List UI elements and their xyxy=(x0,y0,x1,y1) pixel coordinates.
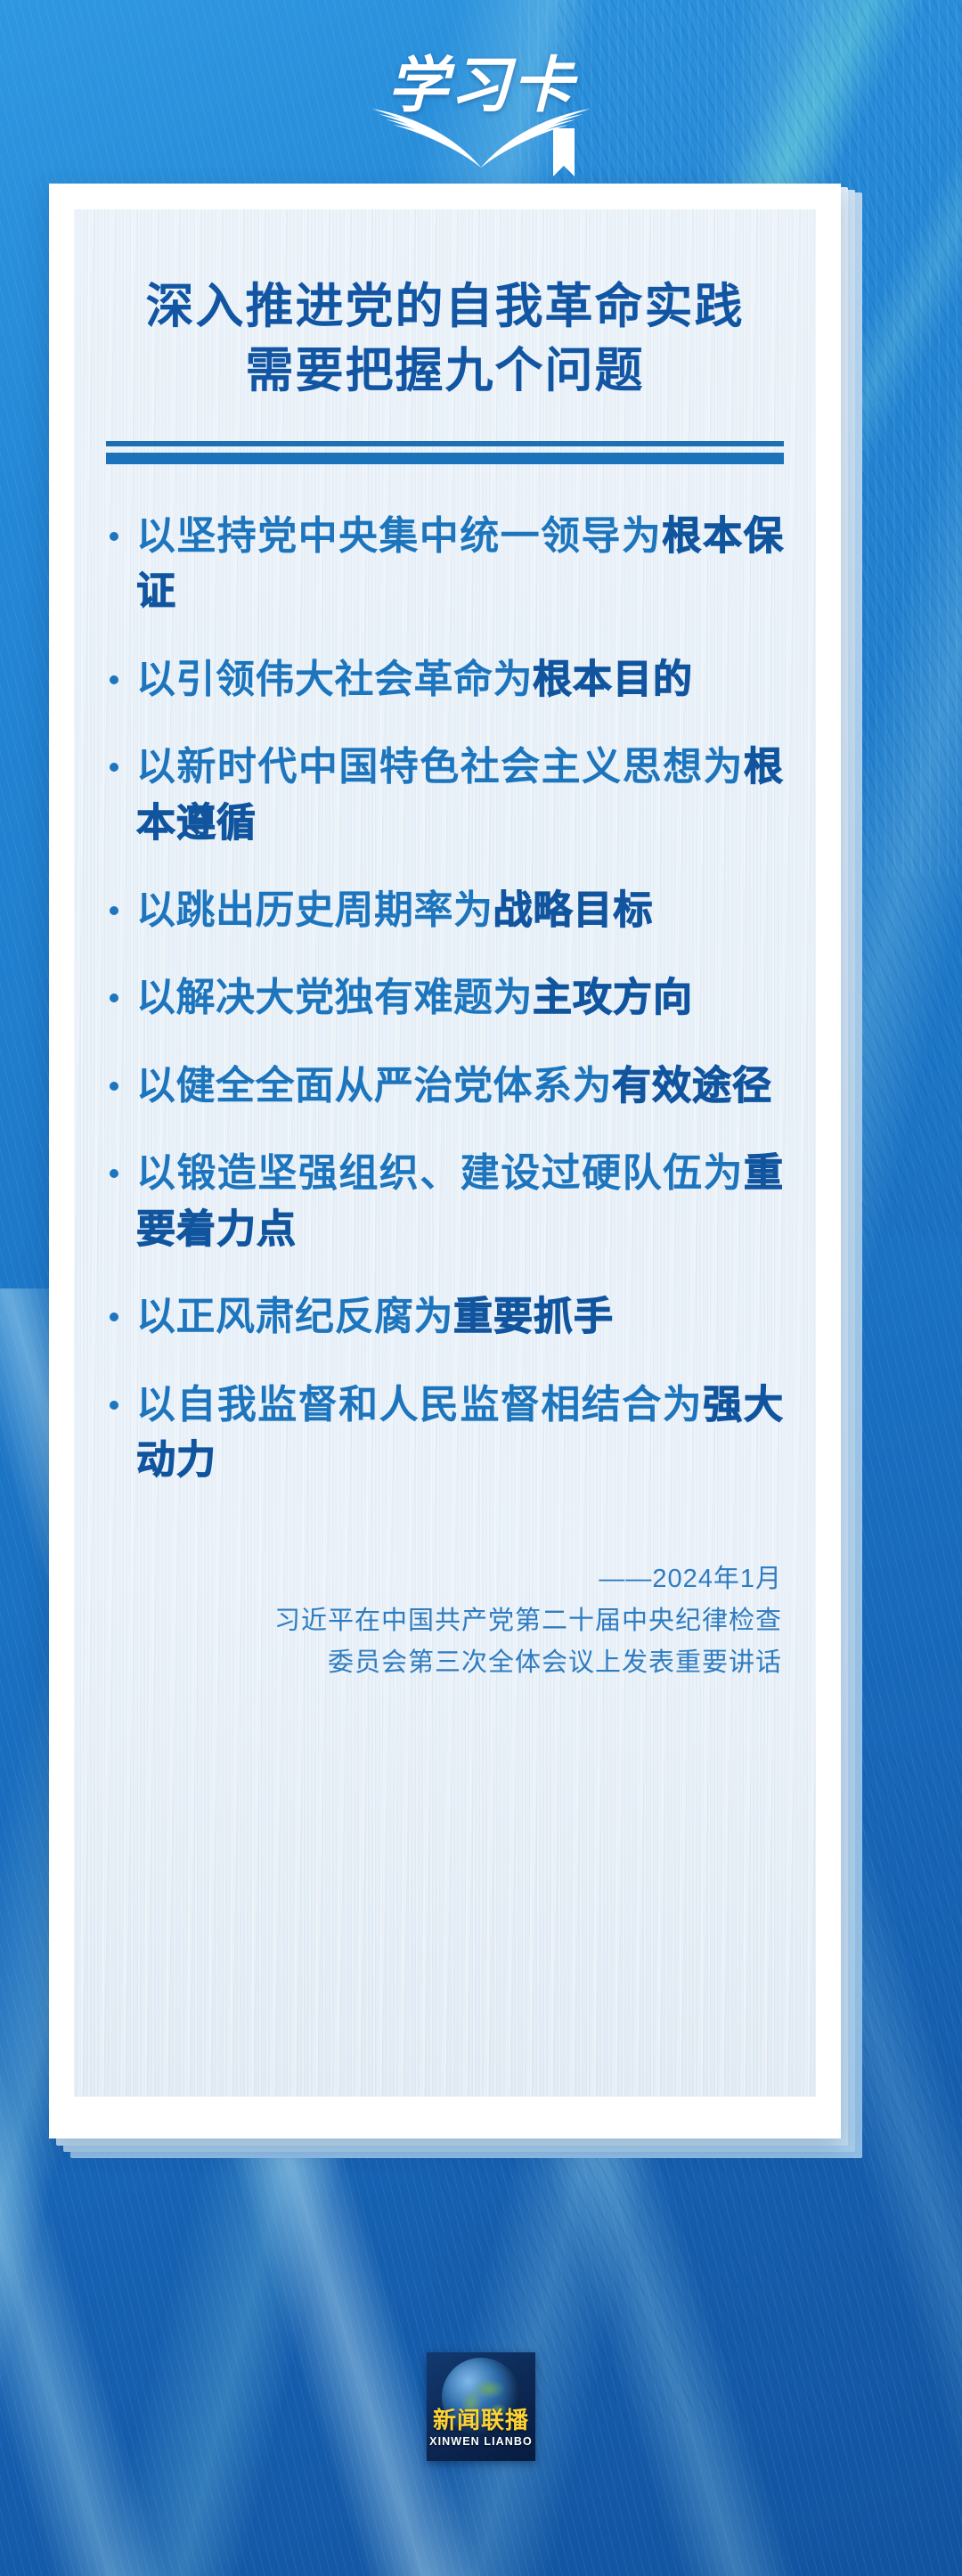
bullet-dot-icon xyxy=(110,763,118,772)
list-item-text: 以坚持党中央集中统一领导为 xyxy=(136,514,662,558)
footer: 新闻联播 XINWEN LIANBO xyxy=(0,2237,962,2576)
list-item-text: 以引领伟大社会革命为 xyxy=(136,658,533,701)
list-item-text: 以锻造坚强组织、建设过硬队伍为 xyxy=(136,1151,744,1195)
list-item-text: 以新时代中国特色社会主义思想为 xyxy=(136,745,744,789)
list-item: 以新时代中国特色社会主义思想为根本遵循 xyxy=(106,740,784,851)
list-item-text: 以解决大党独有难题为 xyxy=(136,976,533,1019)
list-item: 以坚持党中央集中统一领导为根本保证 xyxy=(106,509,784,620)
bullet-dot-icon xyxy=(110,1169,118,1178)
list-item: 以自我监督和人民监督相结合为强大动力 xyxy=(106,1378,784,1489)
poster-root: 学习卡 xyxy=(0,0,962,2576)
list-item: 以健全全面从严治党体系为有效途径 xyxy=(106,1059,784,1114)
logo-title-en: XINWEN LIANBO xyxy=(429,2436,533,2448)
divider-gap xyxy=(106,446,784,453)
list-item-emphasis: 有效途径 xyxy=(612,1064,772,1108)
card-content: 深入推进党的自我革命实践 需要把握九个问题 以坚持党中央集中统一领导为根本保证 xyxy=(106,209,784,1684)
bullet-dot-icon xyxy=(110,1082,118,1091)
list-item-emphasis: 重要抓手 xyxy=(453,1295,614,1338)
header: 学习卡 xyxy=(0,0,962,187)
title-line-2: 需要把握九个问题 xyxy=(106,339,784,404)
bullet-dot-icon xyxy=(110,1401,118,1410)
card-stack: 深入推进党的自我革命实践 需要把握九个问题 以坚持党中央集中统一领导为根本保证 xyxy=(49,184,862,2158)
list-item-text: 以正风肃纪反腐为 xyxy=(136,1295,453,1338)
bullet-dot-icon xyxy=(110,675,118,684)
bullet-dot-icon xyxy=(110,994,118,1002)
card-inner-panel: 深入推进党的自我革命实践 需要把握九个问题 以坚持党中央集中统一领导为根本保证 xyxy=(74,209,816,2097)
list-item-text: 以跳出历史周期率为 xyxy=(136,888,493,932)
list-item-emphasis: 战略目标 xyxy=(493,888,654,932)
list-item: 以正风肃纪反腐为重要抓手 xyxy=(106,1289,784,1345)
list-item-text: 以自我监督和人民监督相结合为 xyxy=(136,1383,703,1427)
list-item: 以解决大党独有难题为主攻方向 xyxy=(106,970,784,1026)
logo-title-cn: 新闻联播 xyxy=(433,2408,529,2432)
list-item: 以锻造坚强组织、建设过硬队伍为重要着力点 xyxy=(106,1146,784,1257)
list-item: 以跳出历史周期率为战略目标 xyxy=(106,883,784,938)
list-item-text: 以健全全面从严治党体系为 xyxy=(136,1064,612,1108)
attribution-line-2: 习近平在中国共产党第二十届中央纪律检查 xyxy=(106,1600,782,1642)
attribution: ——2024年1月 习近平在中国共产党第二十届中央纪律检查 委员会第三次全体会议… xyxy=(106,1558,784,1684)
brand-logo: 学习卡 xyxy=(352,12,610,176)
title-line-1: 深入推进党的自我革命实践 xyxy=(106,275,784,339)
bullet-dot-icon xyxy=(110,532,118,541)
list-item: 以引领伟大社会革命为根本目的 xyxy=(106,652,784,707)
brand-name: 学习卡 xyxy=(387,55,575,116)
bullet-list: 以坚持党中央集中统一领导为根本保证 以引领伟大社会革命为根本目的 以新时代中国特… xyxy=(106,509,784,1489)
list-item-emphasis: 根本目的 xyxy=(533,658,693,701)
bullet-dot-icon xyxy=(110,1313,118,1321)
page-title: 深入推进党的自我革命实践 需要把握九个问题 xyxy=(106,209,784,404)
attribution-line-3: 委员会第三次全体会议上发表重要讲话 xyxy=(106,1642,782,1684)
attribution-date: ——2024年1月 xyxy=(106,1558,782,1600)
divider-line-thick xyxy=(106,453,784,464)
title-divider xyxy=(106,441,784,464)
bullet-dot-icon xyxy=(110,906,118,915)
xinwen-lianbo-logo: 新闻联播 XINWEN LIANBO xyxy=(427,2352,535,2461)
list-item-emphasis: 主攻方向 xyxy=(533,976,693,1019)
content-card: 深入推进党的自我革命实践 需要把握九个问题 以坚持党中央集中统一领导为根本保证 xyxy=(49,184,841,2138)
